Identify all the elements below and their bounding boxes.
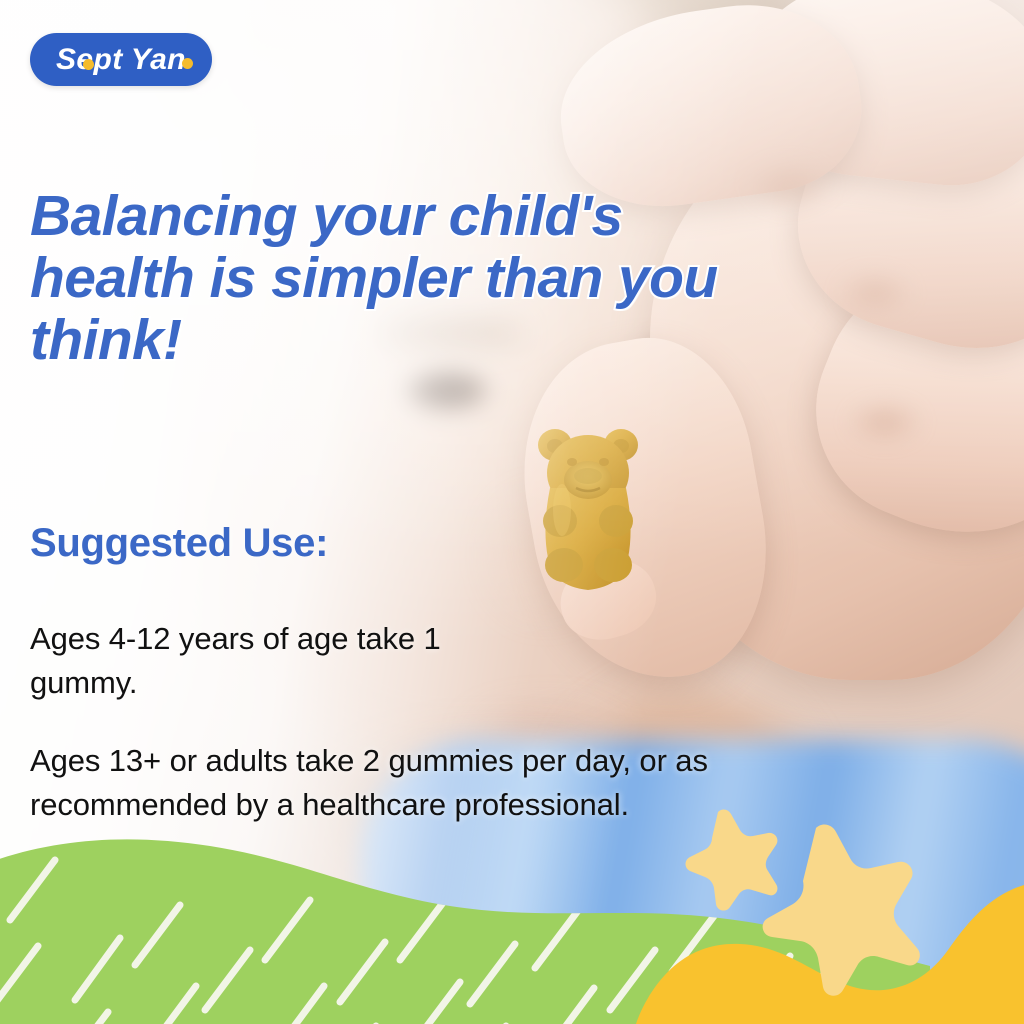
gummy-bear — [528, 418, 648, 598]
knuckle-two — [820, 260, 930, 326]
brand-logo[interactable]: Sept Yan — [30, 33, 212, 86]
suggested-use-heading: Suggested Use: — [30, 521, 328, 566]
dosage-teens-adults: Ages 13+ or adults take 2 gummies per da… — [30, 739, 710, 827]
logo-accent-dot-a-icon — [182, 58, 193, 69]
headline: Balancing your child's health is simpler… — [30, 186, 750, 372]
logo-accent-dot-e-icon — [83, 59, 94, 70]
dosage-children: Ages 4-12 years of age take 1 gummy. — [30, 617, 550, 705]
product-photo — [0, 0, 1024, 1024]
promo-graphic: Sept Yan Balancing your child's health i… — [0, 0, 1024, 1024]
knuckle-three — [830, 390, 940, 454]
child-eye-left — [398, 368, 494, 414]
brand-logo-text: Sept Yan — [56, 45, 186, 75]
